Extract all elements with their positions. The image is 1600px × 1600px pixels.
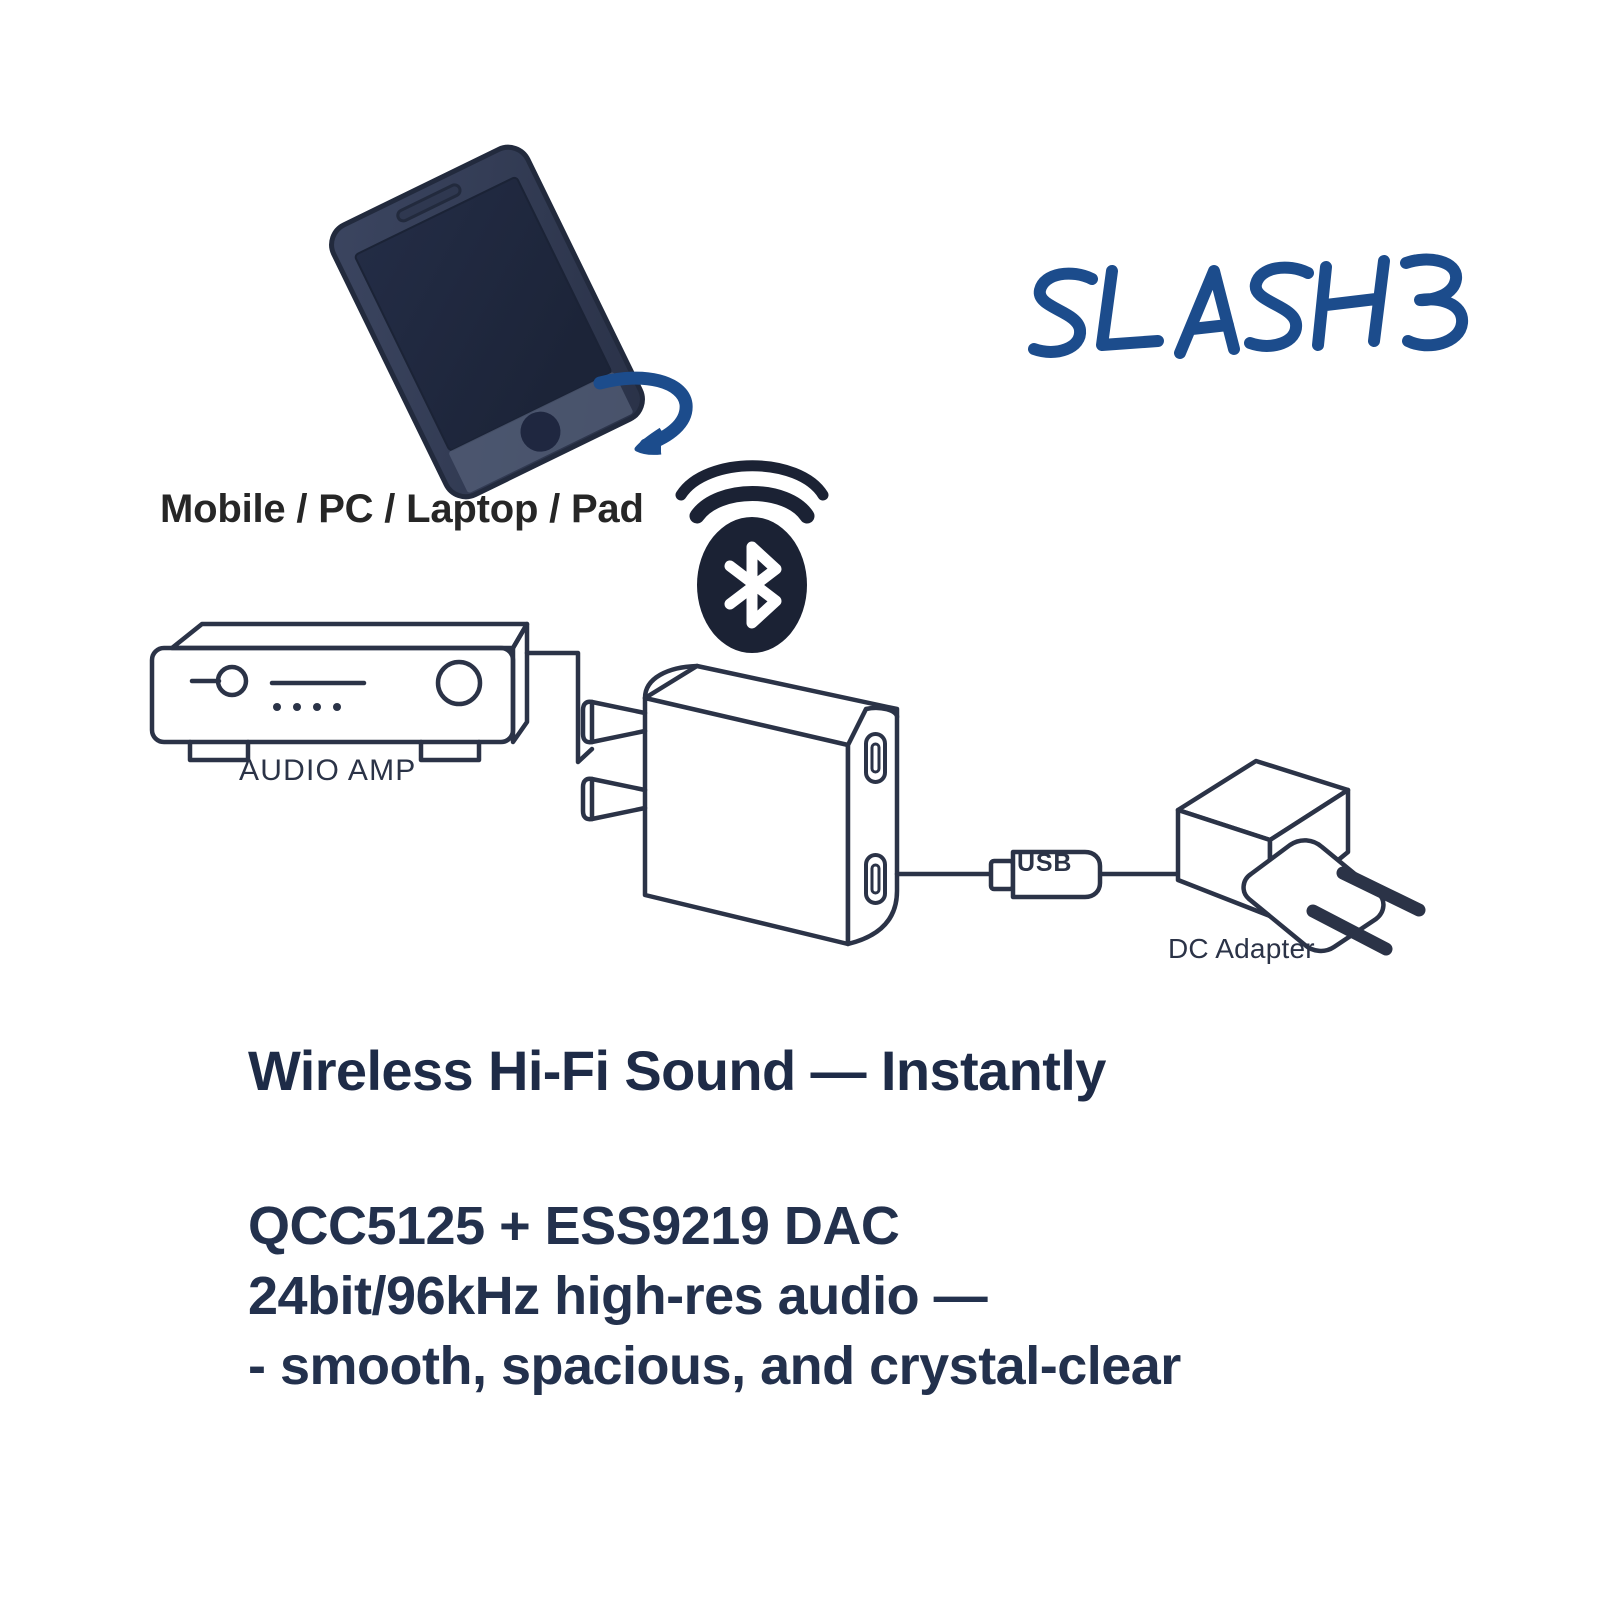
audio-amp-label: AUDIO AMP [239, 756, 417, 786]
dac-receiver-icon [583, 666, 897, 944]
brand-logo [1020, 245, 1480, 395]
power-adapter-icon [1178, 761, 1419, 951]
source-device-label: Mobile / PC / Laptop / Pad [160, 489, 644, 529]
headline: Wireless Hi-Fi Sound — Instantly [248, 1040, 1428, 1103]
spec-line-resolution: 24bit/96kHz high-res audio — [248, 1261, 1428, 1331]
audio-amp-icon [152, 624, 527, 760]
bluetooth-wave-arcs-icon [681, 466, 823, 516]
spec-line-quality: - smooth, spacious, and crystal-clear [248, 1331, 1428, 1401]
usb-connector-label: USB [1017, 851, 1072, 876]
marketing-copy: Wireless Hi-Fi Sound — Instantly QCC5125… [248, 1040, 1428, 1401]
bluetooth-icon [697, 517, 807, 653]
spec-list: QCC5125 + ESS9219 DAC 24bit/96kHz high-r… [248, 1191, 1428, 1402]
smartphone-icon [324, 140, 650, 504]
spec-line-chipset: QCC5125 + ESS9219 DAC [248, 1191, 1428, 1261]
infographic-canvas: Mobile / PC / Laptop / Pad AUDIO AMP USB… [0, 0, 1600, 1600]
dc-adapter-label: DC Adapter [1168, 935, 1315, 963]
